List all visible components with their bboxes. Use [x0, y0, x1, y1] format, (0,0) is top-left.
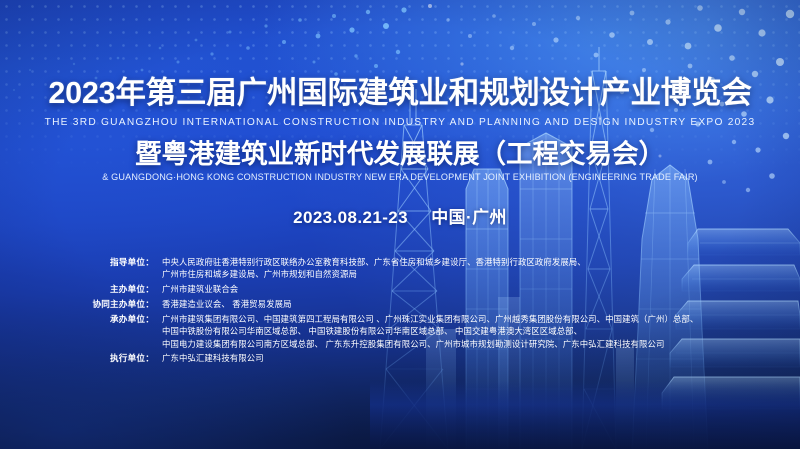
org-value: 中央人民政府驻香港特别行政区联络办公室教育科技部、广东省住房和城乡建设厅、香港特…: [162, 256, 736, 280]
org-line: 广东中弘汇建科技有限公司: [162, 352, 736, 364]
poster-title-cn: 2023年第三届广州国际建筑业和规划设计产业博览会: [0, 78, 800, 109]
org-line: 广州市建筑业联合会: [162, 283, 736, 295]
org-row-cohost: 协同主办单位： 香港建造业议会、 香港贸易发展局: [76, 298, 736, 310]
poster-date-location: 2023.08.21-23 中国·广州: [0, 203, 800, 228]
org-line: 广州市住房和城乡建设局、广州市规划和自然资源局: [162, 268, 736, 280]
org-row-host: 主办单位： 广州市建筑业联合会: [76, 283, 736, 295]
organization-list: 指导单位： 中央人民政府驻香港特别行政区联络办公室教育科技部、广东省住房和城乡建…: [76, 256, 736, 367]
org-line: 香港建造业议会、 香港贸易发展局: [162, 298, 736, 310]
org-value: 广州市建筑集团有限公司、中国建筑第四工程局有限公司 、广州珠江实业集团有限公司、…: [162, 313, 736, 349]
org-line: 广州市建筑集团有限公司、中国建筑第四工程局有限公司 、广州珠江实业集团有限公司、…: [162, 313, 736, 325]
poster-content: 2023年第三届广州国际建筑业和规划设计产业博览会 THE 3RD GUANGZ…: [0, 0, 800, 449]
org-row-organizer: 承办单位： 广州市建筑集团有限公司、中国建筑第四工程局有限公司 、广州珠江实业集…: [76, 313, 736, 349]
org-line: 中国中铁股份有限公司华南区域总部、 中国铁建股份有限公司华南区域总部、 中国交建…: [162, 325, 736, 337]
org-label: 协同主办单位：: [76, 298, 162, 310]
org-label: 指导单位：: [76, 256, 162, 268]
org-row-guidance: 指导单位： 中央人民政府驻香港特别行政区联络办公室教育科技部、广东省住房和城乡建…: [76, 256, 736, 280]
org-label: 承办单位：: [76, 313, 162, 325]
poster-title-en: THE 3RD GUANGZHOU INTERNATIONAL CONSTRUC…: [0, 117, 800, 128]
expo-poster: 2023年第三届广州国际建筑业和规划设计产业博览会 THE 3RD GUANGZ…: [0, 0, 800, 449]
event-date: 2023.08.21-23: [293, 208, 408, 227]
org-value: 广东中弘汇建科技有限公司: [162, 352, 736, 364]
org-value: 广州市建筑业联合会: [162, 283, 736, 295]
org-label: 执行单位：: [76, 352, 162, 364]
org-line: 中国电力建设集团有限公司南方区域总部、 广东东升控股集团有限公司、广州市城市规划…: [162, 338, 736, 350]
poster-subtitle-cn: 暨粤港建筑业新时代发展联展（工程交易会）: [0, 141, 800, 168]
org-row-executor: 执行单位： 广东中弘汇建科技有限公司: [76, 352, 736, 364]
event-location: 中国·广州: [431, 208, 507, 227]
org-label: 主办单位：: [76, 283, 162, 295]
org-value: 香港建造业议会、 香港贸易发展局: [162, 298, 736, 310]
poster-subtitle-en: & GUANGDONG·HONG KONG CONSTRUCTION INDUS…: [0, 172, 800, 182]
org-line: 中央人民政府驻香港特别行政区联络办公室教育科技部、广东省住房和城乡建设厅、香港特…: [162, 256, 736, 268]
